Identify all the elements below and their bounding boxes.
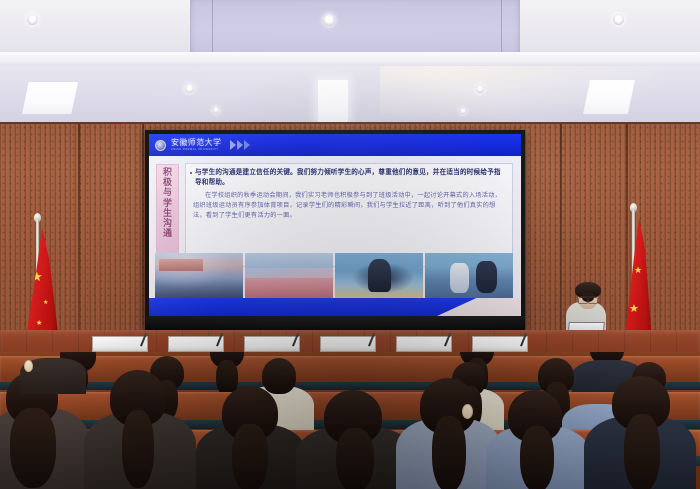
audience-ponytail [520,426,554,489]
chevron-right-icon-group [230,140,250,150]
downlight-icon [476,85,484,93]
university-seal-icon [155,140,166,151]
hair-clip-icon [462,404,473,419]
vertical-title-char: 生 [163,209,172,218]
audience-head [262,358,296,394]
projection-screen[interactable]: 安徽师范大学 ANHUI NORMAL UNIVERSITY 积 极 与 学 生… [145,130,525,330]
vertical-title-char: 与 [163,188,172,197]
flag-star-icon: ★ [43,300,48,306]
flag-star-icon: ★ [634,266,642,275]
photo-opening-ceremony [155,253,243,298]
slide-footer-bar [149,298,521,316]
downlight-icon [185,84,194,93]
downlight-icon [27,14,38,25]
photo-team-group [425,253,513,298]
vertical-title-char: 通 [163,229,172,238]
slide-bullet-text: 与学生的沟通是建立信任的关键。我们努力倾听学生的心声，尊重他们的意见，并在适当的… [195,168,507,188]
slide-body-card: 与学生的沟通是建立信任的关键。我们努力倾听学生的心声，尊重他们的意见，并在适当的… [185,163,513,267]
slide-vertical-title: 积 极 与 学 生 沟 通 [156,164,179,264]
audience-ponytail [122,410,154,488]
slide-photo-strip [155,253,513,298]
slide-paragraph-text: 在学校组织的秋季运动会期间，我们实习老师也积极参与到了班级活动中，一起讨论开幕式… [186,188,512,221]
audience-ponytail [336,428,374,489]
vertical-title-char: 沟 [163,219,172,228]
audience-ponytail [624,414,660,489]
bullet-dot-icon [190,172,192,174]
university-name: 安徽师范大学 [171,139,221,147]
slide-header-bar: 安徽师范大学 ANHUI NORMAL UNIVERSITY [149,134,521,156]
presentation-slide: 安徽师范大学 ANHUI NORMAL UNIVERSITY 积 极 与 学 生… [149,134,521,316]
audience-ponytail [432,416,466,489]
downlight-icon [213,107,219,113]
slide-bullet-row: 与学生的沟通是建立信任的关键。我们努力倾听学生的心声，尊重他们的意见，并在适当的… [186,164,512,188]
photo-athlete-prep [335,253,423,298]
university-branding: 安徽师范大学 ANHUI NORMAL UNIVERSITY [171,139,221,151]
photo-parade-entry [245,253,333,298]
hair-clip-icon [24,360,33,372]
vertical-title-char: 积 [163,168,172,177]
audience-area [0,352,700,489]
audience-ponytail [232,424,268,489]
chevron-right-icon [244,140,250,150]
ceiling-panel-light [22,82,78,114]
downlight-icon [460,108,466,114]
flag-star-icon: ★ [36,320,42,327]
audience-ponytail [10,408,56,488]
chevron-right-icon [230,140,236,150]
chevron-right-icon [237,140,243,150]
ceiling [0,0,700,128]
university-name-en: ANHUI NORMAL UNIVERSITY [171,148,221,151]
downlight-icon [323,14,335,26]
flag-star-icon: ★ [629,304,639,315]
ceiling-panel-light [583,80,635,114]
downlight-icon [613,14,624,25]
vertical-title-char: 极 [163,178,172,187]
ceiling-panel-light [318,80,348,122]
vertical-title-char: 学 [163,199,172,208]
lecture-hall-scene: ★ ★ ★ ★ ★ 安徽师范大学 ANHUI NORMAL UNIVERSITY [0,0,700,489]
glasses-icon [578,296,598,301]
